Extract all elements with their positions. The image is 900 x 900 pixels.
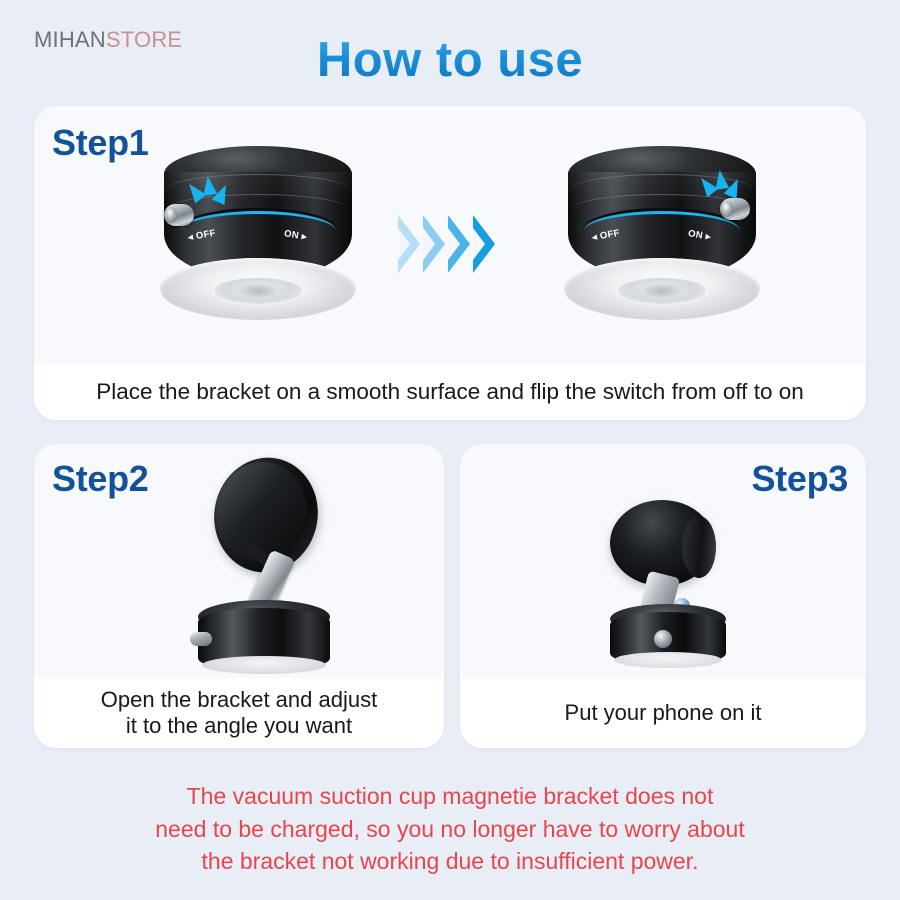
footer-line: The vacuum suction cup magnetie bracket …	[0, 780, 900, 813]
bracket-mounted-illustration	[598, 500, 748, 670]
step-1-label: Step1	[52, 122, 149, 164]
chevron-right-icon	[398, 215, 420, 273]
suction-cup-base	[160, 258, 356, 320]
bracket-open-illustration	[180, 460, 360, 670]
caption-line: Put your phone on it	[565, 700, 762, 726]
footer-line: the bracket not working due to insuffici…	[0, 845, 900, 878]
highlight-burst-icon	[698, 168, 744, 208]
chevron-right-icon	[423, 215, 445, 273]
chevron-right-icon	[448, 215, 470, 273]
chevron-right-icon	[473, 215, 495, 273]
footer-line: need to be charged, so you no longer hav…	[0, 813, 900, 846]
step-3-label: Step3	[751, 458, 848, 500]
step-2-caption: Open the bracket and adjust it to the an…	[34, 678, 444, 748]
step-2-label: Step2	[52, 458, 149, 500]
highlight-burst-icon	[186, 174, 232, 214]
step-3-caption: Put your phone on it	[460, 678, 866, 748]
caption-line: Open the bracket and adjust	[101, 687, 377, 713]
footer-disclaimer: The vacuum suction cup magnetie bracket …	[0, 780, 900, 878]
magnetic-disc-rim	[682, 516, 716, 578]
device-puck-switch-off: ◂ OFF ON ▸	[158, 146, 358, 320]
caption-line: Place the bracket on a smooth surface an…	[96, 379, 803, 406]
caption-line: it to the angle you want	[101, 713, 377, 739]
device-puck-switch-on: ◂ OFF ON ▸	[562, 146, 762, 320]
step-1-caption: Place the bracket on a smooth surface an…	[34, 364, 866, 420]
base-suction-rim	[614, 652, 722, 668]
transition-arrows	[398, 215, 538, 273]
base-suction-rim	[202, 656, 326, 674]
suction-cup-base	[564, 258, 760, 320]
page-header: MIHANSTORE How to use	[0, 0, 900, 102]
page-title: How to use	[0, 32, 900, 88]
switch-knob[interactable]	[654, 630, 672, 648]
switch-knob[interactable]	[190, 632, 212, 646]
